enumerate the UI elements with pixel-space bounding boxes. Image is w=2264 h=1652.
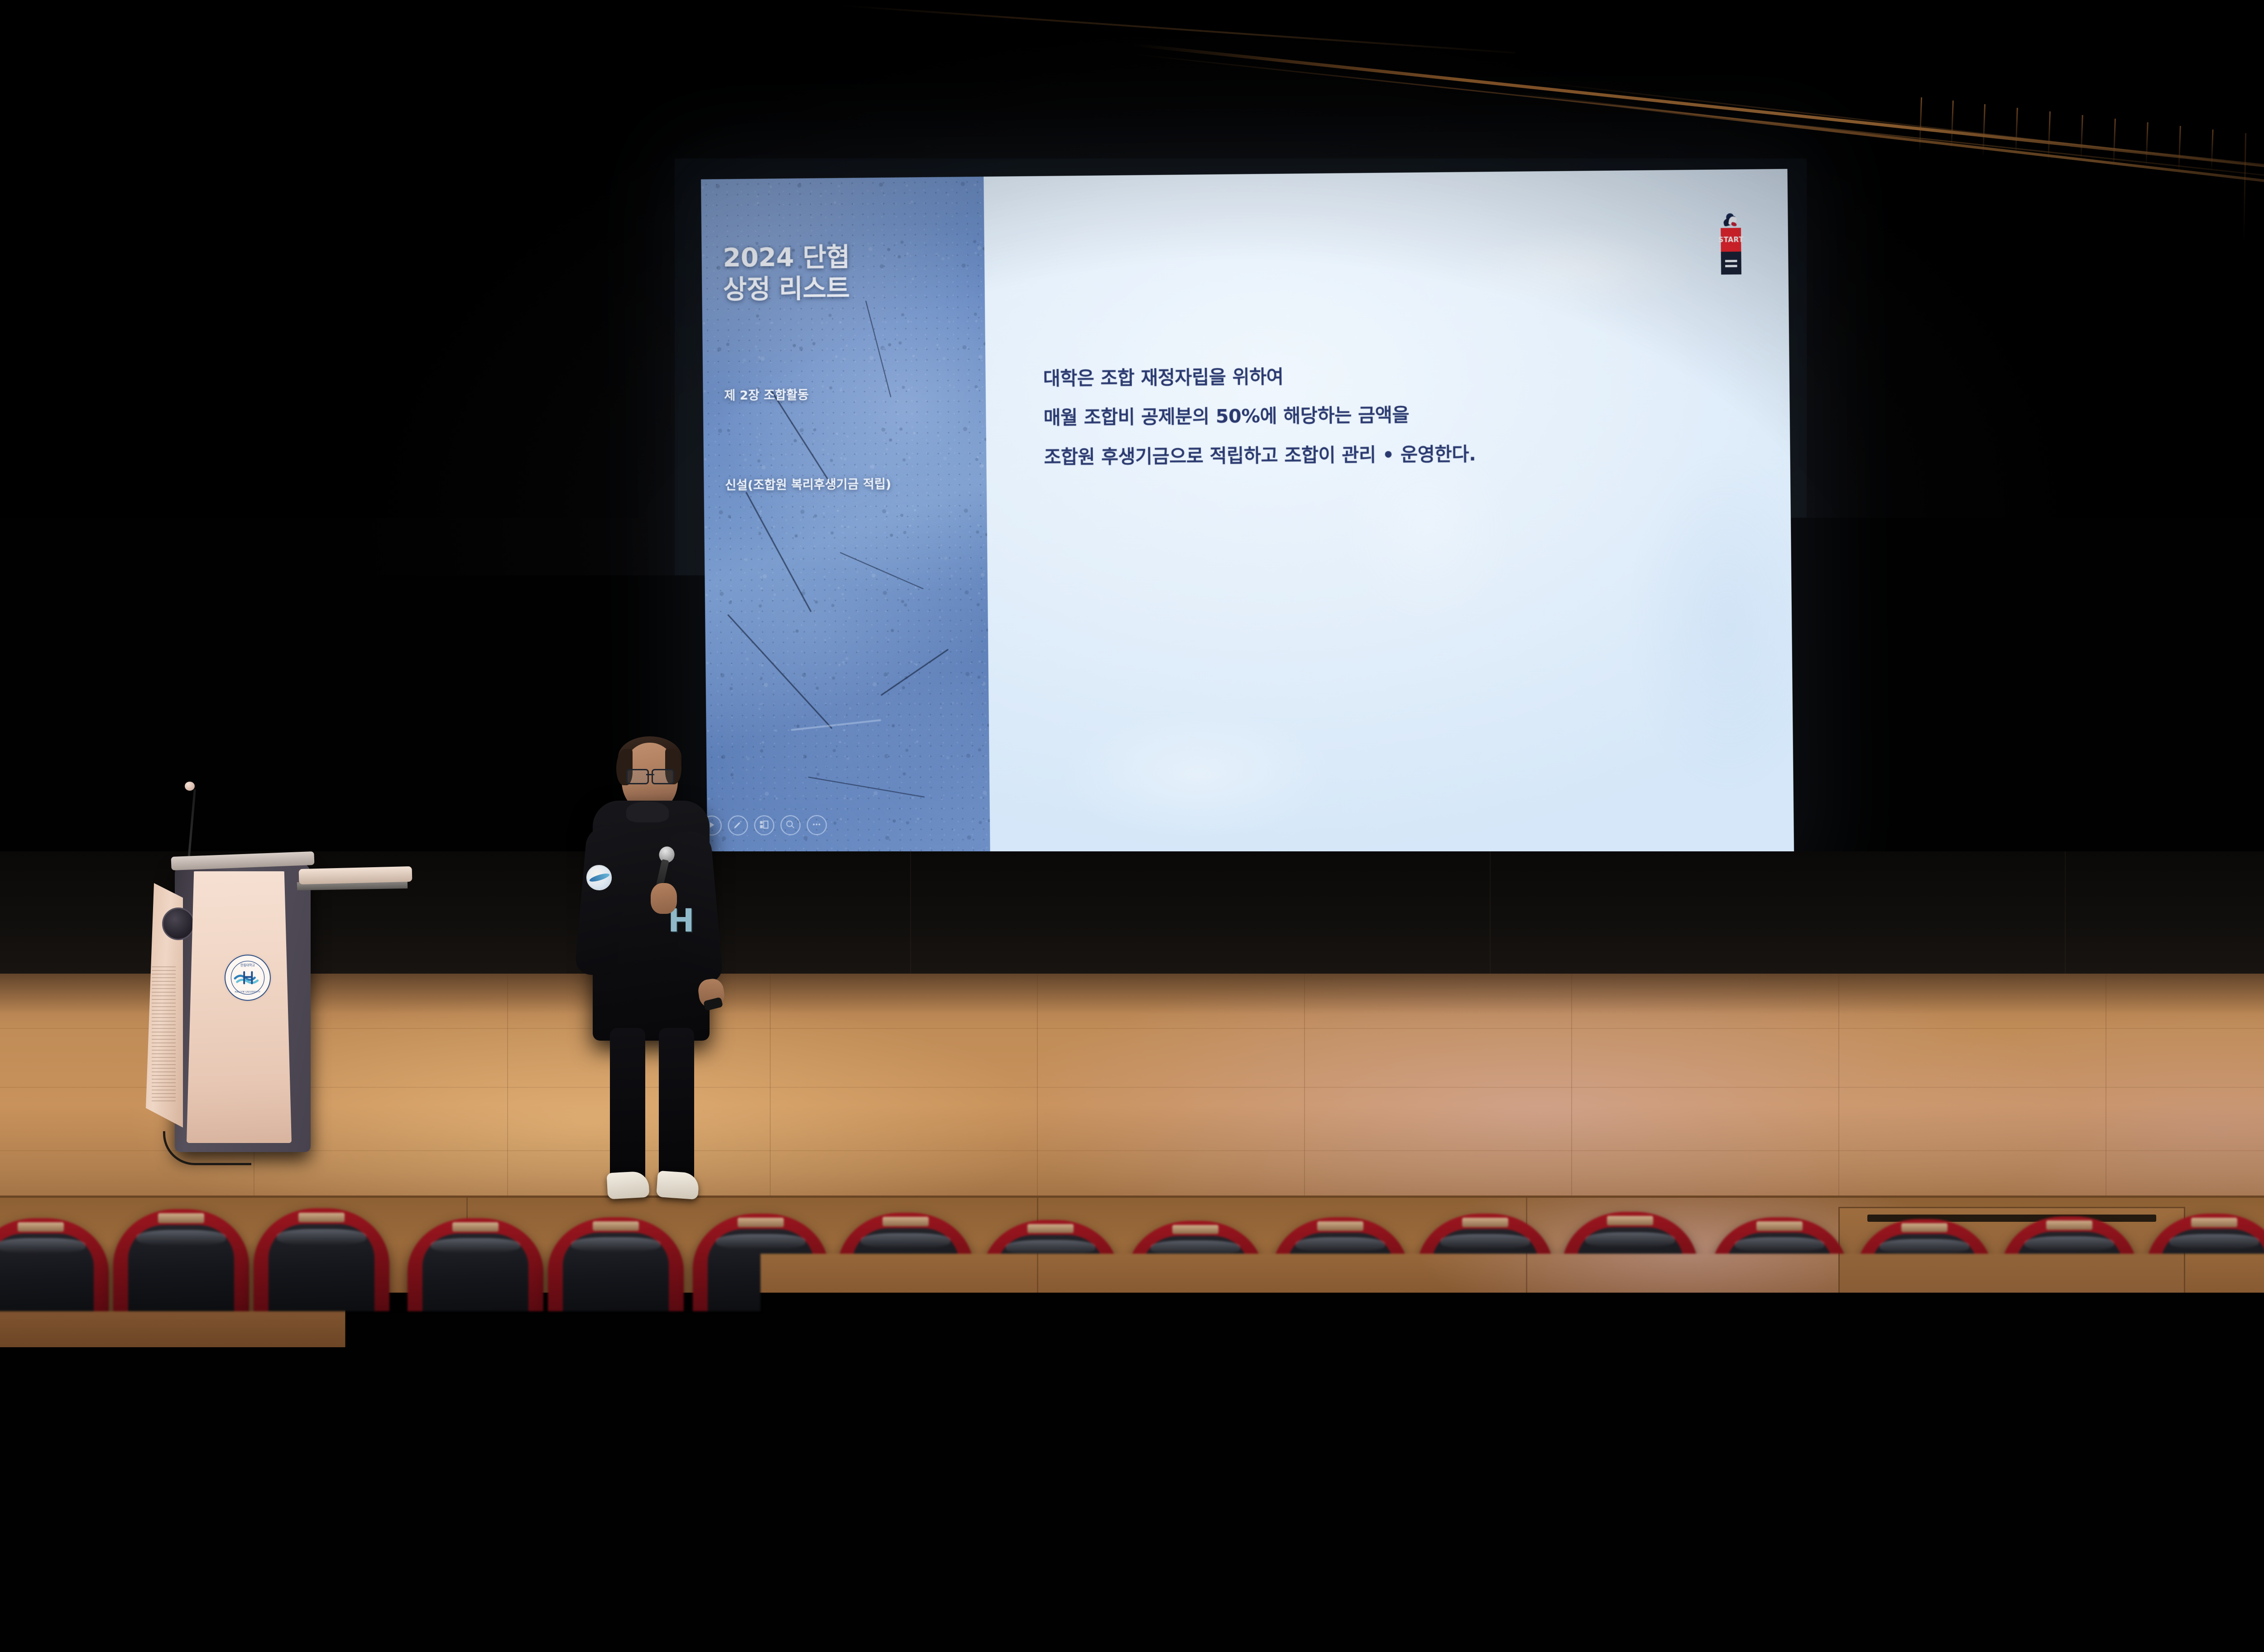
podium-front-face [187, 871, 292, 1143]
more-options-button[interactable] [806, 815, 826, 835]
microphone-head [185, 782, 195, 791]
presenter-collar [626, 802, 669, 822]
seat-row [0, 1399, 2264, 1652]
audience-seat [1440, 1407, 1693, 1652]
audience-seat [1956, 1413, 2210, 1652]
slide-chapter: 제 2장 조합활동 [724, 385, 809, 403]
bird-icon [1721, 213, 1741, 227]
audience-seat [0, 1422, 154, 1652]
podium-power-cable [163, 1131, 251, 1165]
slide-body-line: 매월 조합비 공제분의 50%에 해당하는 금액을 [1043, 403, 1476, 430]
slide-body-text: 대학은 조합 재정자립을 위하여 매월 조합비 공제분의 50%에 해당하는 금… [1043, 363, 1476, 485]
audience-seat [2214, 1407, 2264, 1652]
magnifier-icon [786, 820, 795, 831]
podium: 한림대학교 HALLYM UNIVERSITY [136, 832, 335, 1167]
pen-icon [733, 820, 743, 831]
grid-icon [759, 820, 769, 831]
audience-seat [1182, 1408, 1435, 1652]
audience-seat [408, 1410, 661, 1652]
slide-right-panel: START 대학은 조합 재정자립을 위하여 매월 조합비 공제분의 50%에 … [983, 169, 1794, 858]
slide-body-line: 조합원 후생기금으로 적립하고 조합이 관리 • 운영한다. [1044, 442, 1476, 469]
audience-seat [924, 1416, 1177, 1652]
auditorium-scene: 2024 단협 상정 리스트 제 2장 조합활동 신설(조합원 복리후생기금 적… [0, 0, 2264, 1652]
hallym-university-logo: 한림대학교 HALLYM UNIVERSITY [225, 955, 271, 1001]
audience-seat [1698, 1415, 1952, 1652]
stage-floor [0, 974, 2264, 1227]
podium-speaker-grille [162, 908, 195, 940]
hallym-wave-emblem: 한림대학교 HALLYM UNIVERSITY [230, 960, 265, 995]
logo-dark-block [1721, 252, 1741, 275]
slide-left-panel: 2024 단협 상정 리스트 제 2장 조합활동 신설(조합원 복리후생기금 적… [701, 177, 990, 859]
svg-text:한림대학교: 한림대학교 [240, 963, 255, 967]
presenter-glasses [626, 769, 674, 782]
logo-start-block: START [1721, 228, 1741, 252]
slide: 2024 단협 상정 리스트 제 2장 조합활동 신설(조합원 복리후생기금 적… [701, 169, 1794, 859]
ellipsis-icon [812, 819, 821, 831]
podium-pullout-shelf [299, 866, 413, 884]
audience-seat [149, 1408, 403, 1652]
plaster-highlight [983, 169, 1794, 858]
slide-body-line: 대학은 조합 재정자립을 위하여 [1043, 363, 1475, 390]
presenter-legs [610, 1028, 694, 1191]
projection-screen: 2024 단협 상정 리스트 제 2장 조합활동 신설(조합원 복리후생기금 적… [701, 169, 1794, 859]
zoom-tool-button[interactable] [780, 815, 800, 835]
presenter-hand-holding-mic [651, 883, 677, 914]
presenter-shoe [607, 1171, 650, 1200]
logo-start-label: START [1718, 235, 1744, 244]
slide-title: 2024 단협 상정 리스트 [723, 242, 850, 305]
audience-seat [666, 1417, 919, 1652]
presenter: H [568, 729, 731, 1209]
slide-logo: START [1721, 213, 1741, 275]
svg-text:HALLYM UNIVERSITY: HALLYM UNIVERSITY [235, 991, 261, 994]
slide-grid-button[interactable] [754, 815, 774, 835]
slide-item: 신설(조합원 복리후생기금 적립) [725, 474, 891, 493]
audience-seating [0, 1200, 2264, 1652]
